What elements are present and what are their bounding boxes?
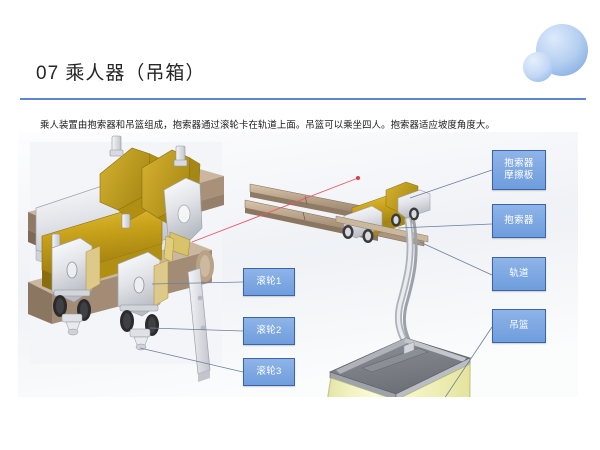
callout-friction-plate-line2: 摩擦板 xyxy=(504,170,533,182)
header-decoration xyxy=(490,0,600,100)
decoration-circle-large xyxy=(536,24,588,76)
callout-roller-1[interactable]: 滚轮1 xyxy=(243,268,295,296)
callout-friction-plate-line1: 抱索器 xyxy=(504,158,533,170)
callout-cabin-label: 吊篮 xyxy=(509,320,529,332)
title-divider xyxy=(20,98,586,100)
callout-roller-1-label: 滚轮1 xyxy=(256,276,281,288)
callout-roller-3[interactable]: 滚轮3 xyxy=(243,358,295,386)
slide-root: 07 乘人器（吊箱） 乘人装置由抱索器和吊篮组成，抱索器通过滚轮卡在轨道上面。吊… xyxy=(0,0,600,450)
grip-detail-assembly xyxy=(28,136,224,382)
callout-rail[interactable]: 轨道 xyxy=(492,257,546,291)
page-title: 07 乘人器（吊箱） xyxy=(36,58,205,85)
callout-rail-label: 轨道 xyxy=(509,268,529,280)
decoration-circle-small xyxy=(523,52,553,82)
callout-roller-2-label: 滚轮2 xyxy=(256,325,281,337)
callout-grip-label: 抱索器 xyxy=(504,215,533,227)
callout-cabin[interactable]: 吊篮 xyxy=(492,309,546,343)
callout-friction-plate[interactable]: 抱索器 摩擦板 xyxy=(492,150,546,190)
subtitle-text: 乘人装置由抱索器和吊篮组成，抱索器通过滚轮卡在轨道上面。吊篮可以乘坐四人。抱索器… xyxy=(40,117,570,131)
callout-grip[interactable]: 抱索器 xyxy=(492,204,546,238)
callout-roller-2[interactable]: 滚轮2 xyxy=(243,317,295,345)
callout-roller-3-label: 滚轮3 xyxy=(256,366,281,378)
